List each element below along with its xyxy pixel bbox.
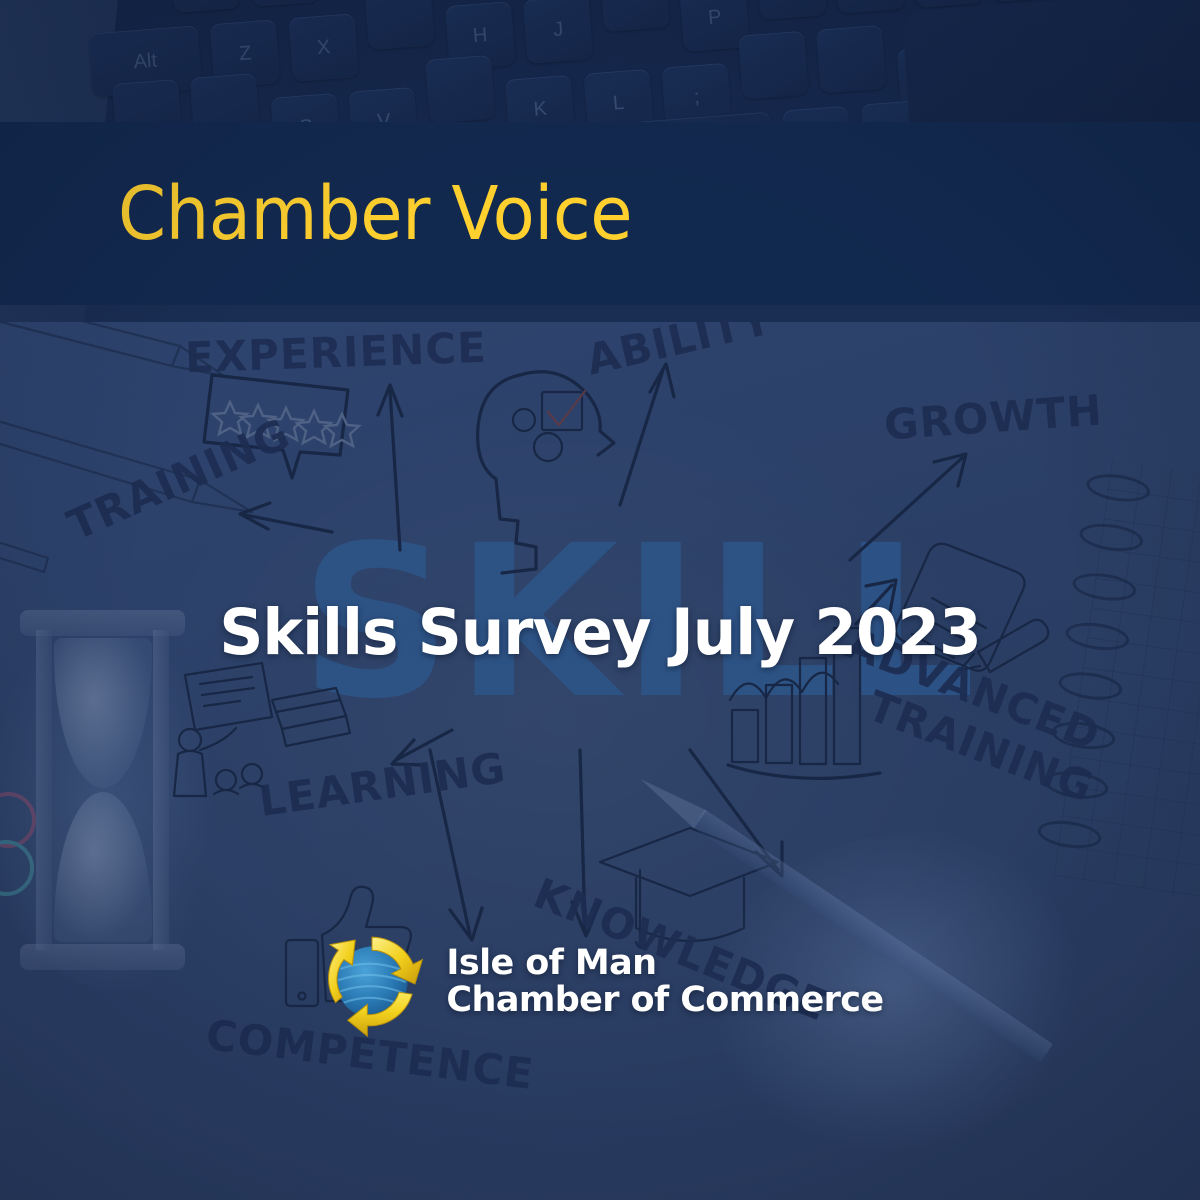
chamber-voice-poster: SKILL bbox=[0, 0, 1200, 1200]
book-icon bbox=[272, 688, 350, 746]
keyboard-key bbox=[599, 0, 670, 32]
head-with-gears-checkbox-icon bbox=[478, 372, 614, 573]
logo-line-1: Isle of Man bbox=[446, 945, 883, 982]
keyboard-key bbox=[425, 55, 496, 124]
top-banner: Chamber Voice bbox=[0, 122, 1200, 305]
keyboard-key bbox=[834, 0, 905, 14]
isle-of-man-chamber-logo-icon bbox=[316, 926, 428, 1038]
logo-line-2: Chamber of Commerce bbox=[446, 982, 883, 1019]
headline: Skills Survey July 2023 bbox=[18, 596, 1182, 669]
logo-wordmark: Isle of Man Chamber of Commerce bbox=[446, 945, 883, 1019]
keyboard-key bbox=[816, 25, 887, 94]
keyboard-key bbox=[738, 31, 809, 100]
keyboard-key bbox=[756, 0, 827, 20]
logo-lockup: Isle of Man Chamber of Commerce bbox=[0, 926, 1200, 1038]
page-title: Chamber Voice bbox=[118, 177, 632, 251]
presentation-board-icon bbox=[174, 663, 272, 796]
arrow-icon bbox=[620, 370, 663, 505]
arrow-icon bbox=[390, 390, 400, 550]
keyboard-key bbox=[365, 0, 436, 50]
paperclip-icon bbox=[0, 794, 34, 894]
